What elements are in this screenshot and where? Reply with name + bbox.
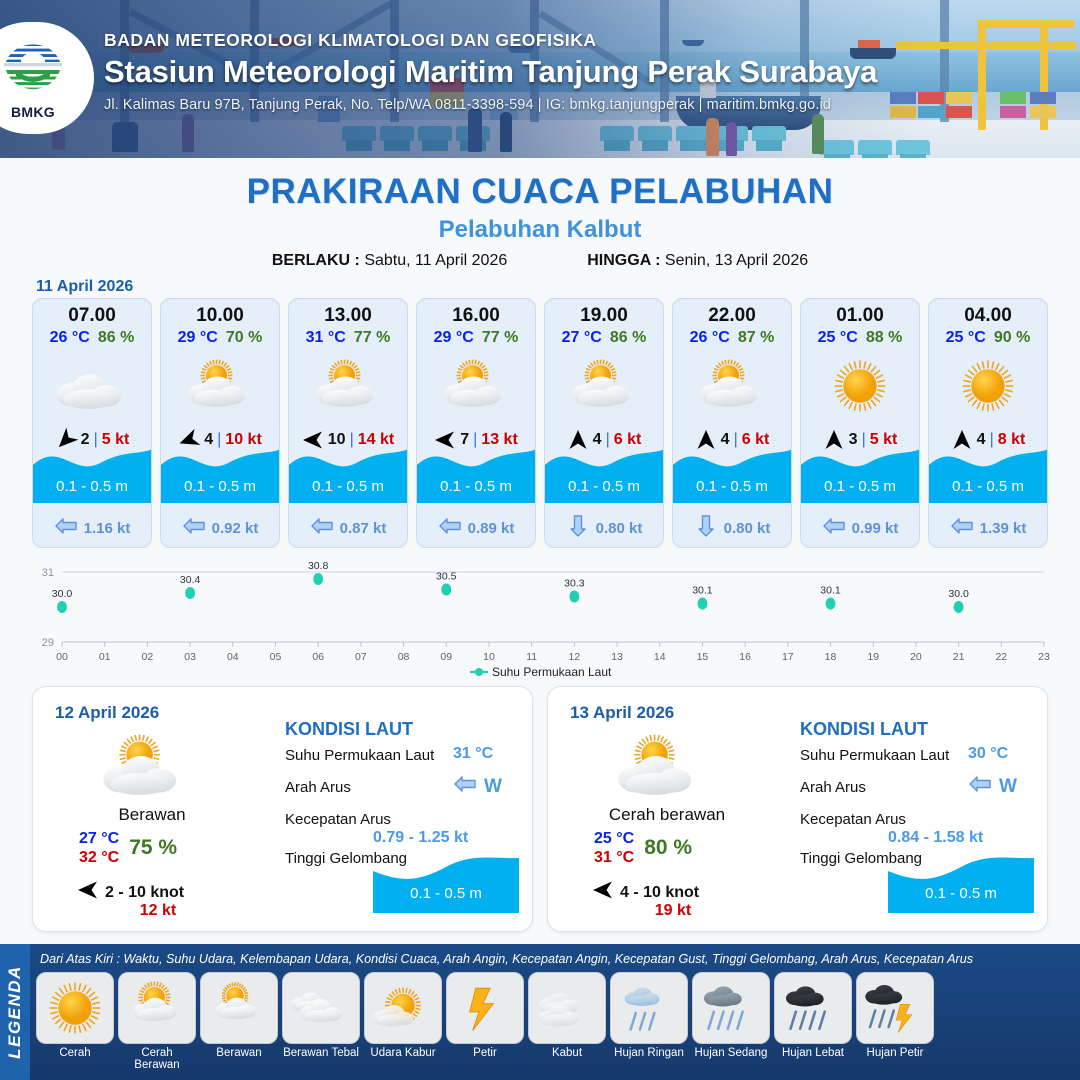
card-temp-hum: 29 °C 77 % <box>417 329 535 347</box>
sst-label: Suhu Permukaan Laut <box>800 747 949 764</box>
legend-item: Cerah <box>36 972 114 1071</box>
card-temperature: 25 °C <box>818 329 858 347</box>
valid-from-value: Sabtu, 11 April 2026 <box>364 252 507 269</box>
weather-fog-icon <box>528 972 606 1044</box>
card-temp-hum: 26 °C 86 % <box>33 329 151 347</box>
svg-text:19: 19 <box>867 651 879 663</box>
wave-height: 0.1 - 0.5 m <box>673 478 791 495</box>
svg-text:30.0: 30.0 <box>52 588 73 600</box>
daily-date: 13 April 2026 <box>570 703 674 723</box>
card-time: 04.00 <box>929 305 1047 327</box>
weather-thunderstorm-icon <box>856 972 934 1044</box>
legend-item-label: Hujan Petir <box>856 1047 934 1059</box>
svg-text:30.0: 30.0 <box>948 588 969 600</box>
card-time: 01.00 <box>801 305 919 327</box>
card-temp-hum: 26 °C 87 % <box>673 329 791 347</box>
current-speed: 1.16 kt <box>84 520 131 537</box>
card-temperature: 27 °C <box>562 329 602 347</box>
svg-text:16: 16 <box>739 651 751 663</box>
card-current-row: 0.80 kt <box>545 517 663 539</box>
svg-text:02: 02 <box>142 651 154 663</box>
legenda-tab: LEGENDA <box>0 944 30 1080</box>
svg-text:12: 12 <box>569 651 581 663</box>
svg-text:30.1: 30.1 <box>692 585 713 597</box>
svg-text:09: 09 <box>440 651 452 663</box>
header-banner: BMKG BADAN METEOROLOGI KLIMATOLOGI DAN G… <box>0 0 1080 158</box>
current-speed: 0.89 kt <box>468 520 515 537</box>
current-direction-arrow-icon <box>54 517 78 539</box>
svg-text:30.1: 30.1 <box>820 585 841 597</box>
hourly-card: 16.00 29 °C 77 % 7 | 13 kt 0.1 - 0.5 m <box>416 298 536 548</box>
svg-text:00: 00 <box>56 651 68 663</box>
daily-forecast-row: 12 April 2026 Berawan 27 °C 32 °C 75 % 2… <box>32 686 1048 932</box>
daily-temp-hum: 27 °C 32 °C 75 % <box>79 829 177 867</box>
svg-text:07: 07 <box>355 651 367 663</box>
valid-to-label: HINGGA : <box>587 252 660 269</box>
svg-text:29: 29 <box>42 637 54 649</box>
legend-item: Cerah Berawan <box>118 972 196 1071</box>
validity-row: BERLAKU : Sabtu, 11 April 2026 HINGGA : … <box>0 252 1080 270</box>
current-direction-arrow-icon <box>566 517 590 539</box>
card-temperature: 29 °C <box>434 329 474 347</box>
wave-height: 0.1 - 0.5 m <box>161 478 279 495</box>
card-humidity: 86 % <box>98 329 134 347</box>
legend-item: Petir <box>446 972 524 1071</box>
weather-partly-cloudy-icon <box>161 349 279 423</box>
sst-label: Suhu Permukaan Laut <box>285 747 434 764</box>
bmkg-logo-label: BMKG <box>0 104 70 120</box>
daily-gust: 19 kt <box>548 902 798 920</box>
daily-wind: 2 - 10 knot <box>105 884 184 902</box>
card-temperature: 26 °C <box>50 329 90 347</box>
page-title: PRAKIRAAN CUACA PELABUHAN <box>0 172 1080 212</box>
card-temp-hum: 31 °C 77 % <box>289 329 407 347</box>
sst-chart-svg: 3129000102030405060708091011121314151617… <box>22 556 1062 676</box>
svg-text:15: 15 <box>697 651 709 663</box>
current-direction-arrow-icon <box>694 517 718 539</box>
weather-sunny-icon <box>801 349 919 423</box>
current-direction-arrow-icon <box>968 775 992 798</box>
legend-item: Udara Kabur <box>364 972 442 1071</box>
current-speed: 1.39 kt <box>980 520 1027 537</box>
card-current-row: 1.16 kt <box>33 517 151 539</box>
card-humidity: 87 % <box>738 329 774 347</box>
legend-item: Berawan Tebal <box>282 972 360 1071</box>
svg-text:20: 20 <box>910 651 922 663</box>
weather-cloudy-sun-icon <box>200 972 278 1044</box>
weather-partly-cloudy-icon <box>673 349 791 423</box>
current-direction-arrow-icon <box>438 517 462 539</box>
current-direction-arrow-icon <box>822 517 846 539</box>
header-text-block: BADAN METEOROLOGI KLIMATOLOGI DAN GEOFIS… <box>104 30 1024 113</box>
weather-partly-cloudy-icon <box>417 349 535 423</box>
daily-temp-max: 32 °C <box>79 848 119 867</box>
current-speed: 0.87 kt <box>340 520 387 537</box>
weather-partly-cloudy-icon <box>289 349 407 423</box>
weather-sunny-icon <box>36 972 114 1044</box>
wave-height: 0.1 - 0.5 m <box>801 478 919 495</box>
hourly-date: 11 April 2026 <box>36 278 133 296</box>
svg-text:13: 13 <box>611 651 623 663</box>
weather-heavy-rain-icon <box>774 972 852 1044</box>
svg-text:30.8: 30.8 <box>308 560 329 572</box>
weather-partly-cloudy-icon <box>545 349 663 423</box>
current-direction-arrow-icon <box>453 775 477 798</box>
card-current-row: 0.99 kt <box>801 517 919 539</box>
daily-condition: Cerah berawan <box>548 805 786 825</box>
hourly-card: 07.00 26 °C 86 % 2 | 5 kt 0.1 - 0.5 m 1.… <box>32 298 152 548</box>
svg-text:18: 18 <box>825 651 837 663</box>
svg-text:23: 23 <box>1038 651 1050 663</box>
daily-wind: 4 - 10 knot <box>620 884 699 902</box>
agency-name: BADAN METEOROLOGI KLIMATOLOGI DAN GEOFIS… <box>104 30 1024 51</box>
svg-text:14: 14 <box>654 651 666 663</box>
sea-condition-title: KONDISI LAUT <box>285 719 413 740</box>
daily-temp-hum: 25 °C 31 °C 80 % <box>594 829 692 867</box>
svg-text:08: 08 <box>398 651 410 663</box>
card-humidity: 77 % <box>354 329 390 347</box>
chart-legend: Suhu Permukaan Laut <box>0 664 1080 679</box>
card-time: 13.00 <box>289 305 407 327</box>
current-speed: 0.99 kt <box>852 520 899 537</box>
hourly-card: 19.00 27 °C 86 % 4 | 6 kt 0.1 - 0.5 m <box>544 298 664 548</box>
legend-item-label: Petir <box>446 1047 524 1059</box>
daily-forecast-panel: 13 April 2026 Cerah berawan 25 °C 31 °C … <box>547 686 1048 932</box>
weather-partly-cloudy-icon <box>118 972 196 1044</box>
svg-text:21: 21 <box>953 651 965 663</box>
current-direction-value: W <box>484 776 502 798</box>
card-temperature: 25 °C <box>946 329 986 347</box>
card-time: 19.00 <box>545 305 663 327</box>
weather-haze-icon <box>364 972 442 1044</box>
legend-bar: LEGENDA Dari Atas Kiri : Waktu, Suhu Uda… <box>0 944 1080 1080</box>
card-humidity: 90 % <box>994 329 1030 347</box>
chart-legend-label: Suhu Permukaan Laut <box>492 665 611 679</box>
svg-text:01: 01 <box>99 651 111 663</box>
card-current-row: 1.39 kt <box>929 517 1047 539</box>
station-name: Stasiun Meteorologi Maritim Tanjung Pera… <box>104 54 1024 90</box>
valid-from: BERLAKU : Sabtu, 11 April 2026 <box>272 252 507 270</box>
card-time: 16.00 <box>417 305 535 327</box>
card-temp-hum: 25 °C 90 % <box>929 329 1047 347</box>
svg-text:11: 11 <box>526 651 537 663</box>
card-temp-hum: 29 °C 70 % <box>161 329 279 347</box>
weather-partly-cloudy-icon <box>604 729 714 812</box>
current-direction-arrow-icon <box>182 517 206 539</box>
weather-sunny-icon <box>929 349 1047 423</box>
legend-item: Hujan Ringan <box>610 972 688 1071</box>
card-temp-hum: 27 °C 86 % <box>545 329 663 347</box>
card-humidity: 86 % <box>610 329 646 347</box>
valid-to: HINGGA : Senin, 13 April 2026 <box>587 252 808 270</box>
legend-note: Dari Atas Kiri : Waktu, Suhu Udara, Kele… <box>40 952 1075 966</box>
current-speed-value: 0.79 - 1.25 kt <box>373 829 468 847</box>
contact-info: Jl. Kalimas Baru 97B, Tanjung Perak, No.… <box>104 97 1024 113</box>
chart-legend-marker <box>469 666 489 678</box>
daily-forecast-panel: 12 April 2026 Berawan 27 °C 32 °C 75 % 2… <box>32 686 533 932</box>
sst-value: 31 °C <box>453 745 493 763</box>
legend-item-label: Berawan <box>200 1047 278 1059</box>
wave-height: 0.1 - 0.5 m <box>33 478 151 495</box>
legend-item-label: Kabut <box>528 1047 606 1059</box>
current-direction-arrow-icon <box>950 517 974 539</box>
current-direction-value-row: W <box>453 775 502 798</box>
card-humidity: 77 % <box>482 329 518 347</box>
svg-text:17: 17 <box>782 651 794 663</box>
current-speed-label: Kecepatan Arus <box>800 811 906 828</box>
card-time: 22.00 <box>673 305 791 327</box>
page-subtitle: Pelabuhan Kalbut <box>0 216 1080 244</box>
card-temp-hum: 25 °C 88 % <box>801 329 919 347</box>
svg-text:30.5: 30.5 <box>436 571 457 583</box>
daily-humidity: 75 % <box>129 836 177 860</box>
legend-item-label: Cerah Berawan <box>118 1047 196 1071</box>
current-direction-arrow-icon <box>310 517 334 539</box>
legend-item: Hujan Lebat <box>774 972 852 1071</box>
card-humidity: 88 % <box>866 329 902 347</box>
daily-temp-min: 27 °C <box>79 829 119 848</box>
svg-text:22: 22 <box>995 651 1007 663</box>
wave-height: 0.1 - 0.5 m <box>289 478 407 495</box>
hourly-card: 22.00 26 °C 87 % 4 | 6 kt 0.1 - 0.5 m <box>672 298 792 548</box>
weather-moderate-rain-icon <box>692 972 770 1044</box>
legend-item-label: Cerah <box>36 1047 114 1059</box>
legend-item-label: Berawan Tebal <box>282 1047 360 1059</box>
legend-item: Berawan <box>200 972 278 1071</box>
svg-text:06: 06 <box>312 651 324 663</box>
hourly-card: 04.00 25 °C 90 % 4 | 8 kt 0.1 - 0.5 m 1.… <box>928 298 1048 548</box>
card-time: 07.00 <box>33 305 151 327</box>
sea-condition-title: KONDISI LAUT <box>800 719 928 740</box>
bmkg-logo-icon <box>0 36 70 104</box>
daily-gust: 12 kt <box>33 902 283 920</box>
current-direction-label: Arah Arus <box>800 779 866 796</box>
card-time: 10.00 <box>161 305 279 327</box>
card-current-row: 0.87 kt <box>289 517 407 539</box>
hourly-card: 13.00 31 °C 77 % 10 | 14 kt 0.1 - 0.5 m <box>288 298 408 548</box>
weather-overcast-icon <box>282 972 360 1044</box>
card-current-row: 0.80 kt <box>673 517 791 539</box>
daily-date: 12 April 2026 <box>55 703 159 723</box>
current-speed: 0.92 kt <box>212 520 259 537</box>
svg-text:31: 31 <box>42 567 54 579</box>
sst-value: 30 °C <box>968 745 1008 763</box>
legenda-label: LEGENDA <box>5 965 25 1059</box>
hourly-card: 01.00 25 °C 88 % 3 | 5 kt 0.1 - 0.5 m 0.… <box>800 298 920 548</box>
current-direction-value-row: W <box>968 775 1017 798</box>
daily-humidity: 80 % <box>644 836 692 860</box>
valid-to-value: Senin, 13 April 2026 <box>665 252 808 269</box>
weather-cloudy-icon <box>33 349 151 423</box>
wave-height: 0.1 - 0.5 m <box>545 478 663 495</box>
legend-item-label: Udara Kabur <box>364 1047 442 1059</box>
wave-height-value: 0.1 - 0.5 m <box>373 885 519 902</box>
card-temperature: 26 °C <box>690 329 730 347</box>
weather-light-rain-icon <box>610 972 688 1044</box>
legend-item: Hujan Petir <box>856 972 934 1071</box>
wave-height-value: 0.1 - 0.5 m <box>888 885 1034 902</box>
daily-condition: Berawan <box>33 805 271 825</box>
legend-item: Hujan Sedang <box>692 972 770 1071</box>
svg-text:10: 10 <box>483 651 495 663</box>
svg-text:03: 03 <box>184 651 196 663</box>
wave-height: 0.1 - 0.5 m <box>929 478 1047 495</box>
svg-text:04: 04 <box>227 651 239 663</box>
legend-items: Cerah Cerah Berawan Berawan <box>36 972 1076 1071</box>
card-humidity: 70 % <box>226 329 262 347</box>
card-temperature: 29 °C <box>178 329 218 347</box>
valid-from-label: BERLAKU : <box>272 252 360 269</box>
legend-item-label: Hujan Sedang <box>692 1047 770 1059</box>
legend-item-label: Hujan Ringan <box>610 1047 688 1059</box>
weather-partly-cloudy-icon <box>89 729 199 812</box>
svg-text:30.3: 30.3 <box>564 578 585 590</box>
weather-lightning-icon <box>446 972 524 1044</box>
hourly-card: 10.00 29 °C 70 % 4 | 10 kt 0.1 - 0.5 m <box>160 298 280 548</box>
card-current-row: 0.92 kt <box>161 517 279 539</box>
current-speed: 0.80 kt <box>596 520 643 537</box>
current-speed: 0.80 kt <box>724 520 771 537</box>
legend-item-label: Hujan Lebat <box>774 1047 852 1059</box>
current-direction-label: Arah Arus <box>285 779 351 796</box>
card-temperature: 31 °C <box>306 329 346 347</box>
current-direction-value: W <box>999 776 1017 798</box>
legend-item: Kabut <box>528 972 606 1071</box>
daily-temp-min: 25 °C <box>594 829 634 848</box>
current-speed-label: Kecepatan Arus <box>285 811 391 828</box>
sst-chart: 3129000102030405060708091011121314151617… <box>22 556 1062 676</box>
svg-text:30.4: 30.4 <box>180 574 201 586</box>
daily-temp-max: 31 °C <box>594 848 634 867</box>
svg-text:05: 05 <box>270 651 282 663</box>
hourly-forecast-row: 07.00 26 °C 86 % 2 | 5 kt 0.1 - 0.5 m 1.… <box>32 298 1048 548</box>
current-speed-value: 0.84 - 1.58 kt <box>888 829 983 847</box>
wave-height: 0.1 - 0.5 m <box>417 478 535 495</box>
card-current-row: 0.89 kt <box>417 517 535 539</box>
